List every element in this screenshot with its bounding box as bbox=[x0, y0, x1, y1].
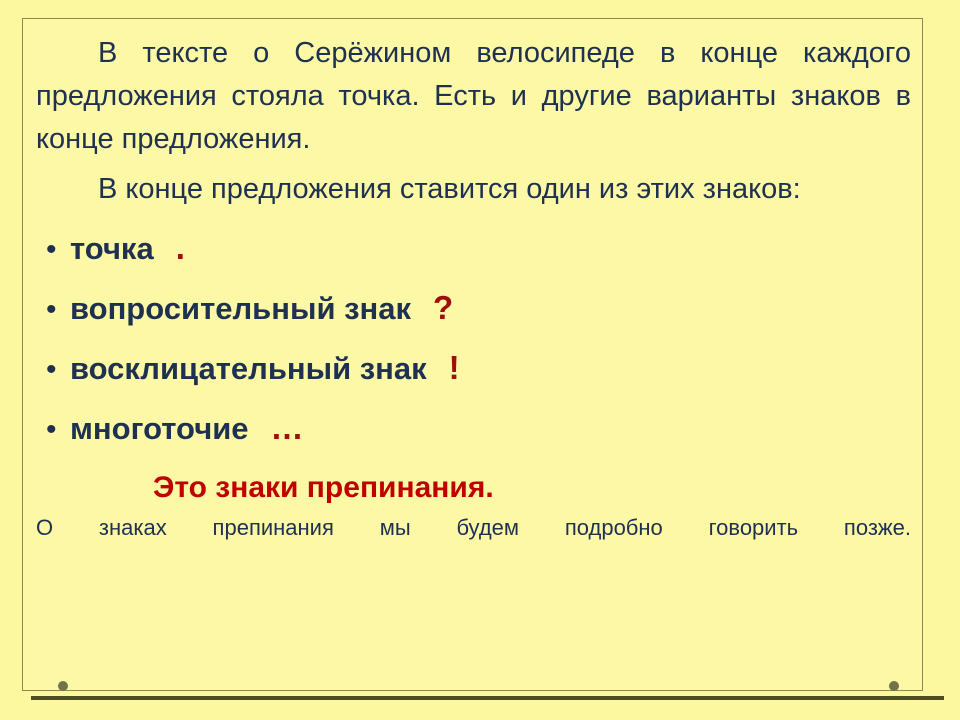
question-mark-symbol: ? bbox=[433, 289, 453, 327]
list-item-tochka: • точка . bbox=[36, 229, 922, 267]
bullet-dot-icon: • bbox=[36, 231, 70, 269]
decorative-dot-right bbox=[889, 681, 899, 691]
period-symbol: . bbox=[176, 229, 185, 267]
punctuation-mark-list: • точка . • вопросительный знак ? • воск… bbox=[23, 229, 922, 447]
list-item-mnogotochie: • многоточие … bbox=[36, 409, 922, 447]
bullet-dot-icon: • bbox=[36, 411, 70, 449]
intro-paragraph-1: В тексте о Серёжином велосипеде в конце … bbox=[23, 32, 922, 161]
bullet-dot-icon: • bbox=[36, 351, 70, 389]
footnote-text: О знаках препинания мы будем подробно го… bbox=[23, 513, 922, 543]
slide: В тексте о Серёжином велосипеде в конце … bbox=[0, 0, 960, 720]
exclamation-mark-symbol: ! bbox=[449, 349, 460, 387]
list-item-vosklicatelnyj-znak: • восклицательный знак ! bbox=[36, 349, 922, 387]
list-item-label: точка bbox=[70, 230, 154, 268]
list-item-voprositelnyj-znak: • вопросительный знак ? bbox=[36, 289, 922, 327]
decorative-rule bbox=[31, 696, 944, 700]
decorative-dot-left bbox=[58, 681, 68, 691]
intro-paragraph-2: В конце предложения ставится один из эти… bbox=[23, 168, 922, 211]
ellipsis-symbol: … bbox=[271, 409, 305, 447]
conclusion-text: Это знаки препинания. bbox=[23, 469, 922, 507]
list-item-label: многоточие bbox=[70, 410, 249, 448]
list-item-label: восклицательный знак bbox=[70, 350, 427, 388]
content-box: В тексте о Серёжином велосипеде в конце … bbox=[22, 18, 923, 691]
bullet-dot-icon: • bbox=[36, 291, 70, 329]
list-item-label: вопросительный знак bbox=[70, 290, 411, 328]
